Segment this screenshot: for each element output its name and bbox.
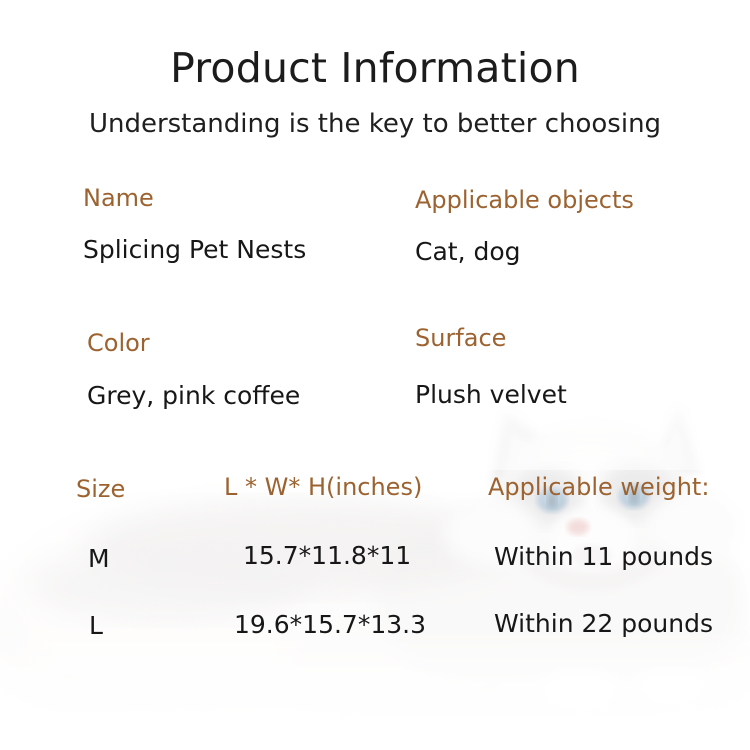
product-information-page: Product Information Understanding is the…	[0, 0, 750, 750]
size-table-header-weight: Applicable weight:	[488, 475, 709, 499]
size-table-header-size: Size	[76, 477, 125, 501]
size-table-row-m-dimensions: 15.7*11.8*11	[243, 543, 411, 568]
spec-value-name: Splicing Pet Nests	[83, 237, 306, 262]
size-table-row-m-size: M	[88, 546, 110, 571]
size-table-row-l-dimensions: 19.6*15.7*13.3	[234, 612, 426, 637]
size-table-row-l-weight: Within 22 pounds	[494, 611, 713, 636]
spec-label-color: Color	[87, 331, 150, 355]
size-table-row-l-size: L	[89, 613, 103, 638]
page-subtitle: Understanding is the key to better choos…	[0, 110, 750, 140]
spec-value-surface: Plush velvet	[415, 382, 567, 407]
content-layer: Product Information Understanding is the…	[0, 0, 750, 750]
size-table-row-m-weight: Within 11 pounds	[494, 544, 713, 569]
spec-value-color: Grey, pink coffee	[87, 383, 300, 408]
spec-value-applicable-objects: Cat, dog	[415, 239, 521, 264]
size-table-header-dimensions: L * W* H(inches)	[224, 475, 422, 499]
spec-label-name: Name	[83, 186, 154, 210]
spec-label-applicable-objects: Applicable objects	[415, 188, 634, 212]
page-title: Product Information	[0, 48, 750, 89]
spec-label-surface: Surface	[415, 326, 506, 350]
